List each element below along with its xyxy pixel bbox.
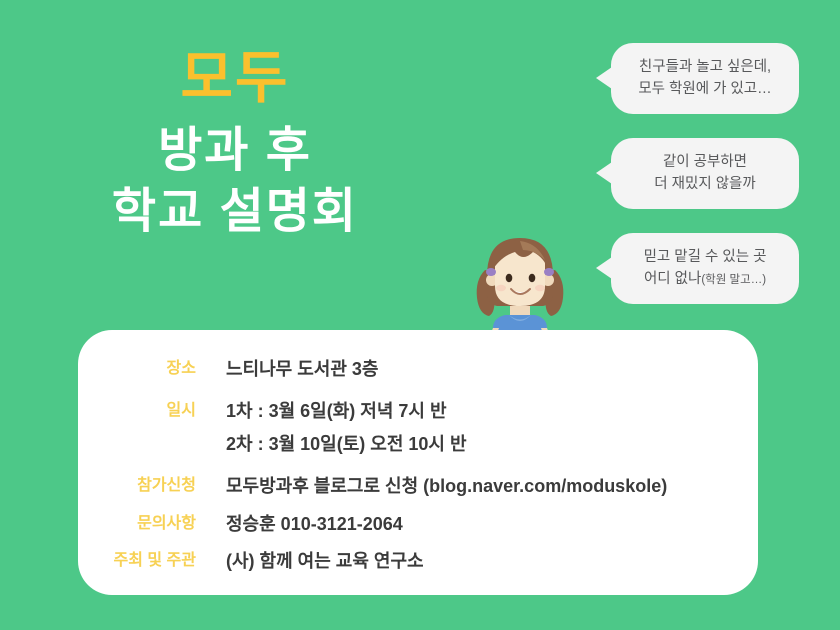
speech-bubble-3: 믿고 맡길 수 있는 곳 어디 없나(학원 말고…): [611, 233, 799, 304]
info-row-datetime: 일시 1차 : 3월 6일(화) 저녁 7시 반 2차 : 3월 10일(토) …: [78, 398, 758, 459]
info-row-organizer: 주최 및 주관 (사) 함께 여는 교육 연구소: [78, 548, 758, 576]
info-value-datetime-session2: 2차 : 3월 10일(토) 오전 10시 반: [226, 431, 467, 459]
info-row-venue: 장소 느티나무 도서관 3층: [78, 356, 758, 384]
info-label-venue: 장소: [78, 356, 196, 381]
info-label-contact: 문의사항: [78, 511, 196, 536]
info-value-contact-line1: 정승훈 010-3121-2064: [226, 511, 403, 539]
info-value-datetime-session1: 1차 : 3월 6일(화) 저녁 7시 반: [226, 398, 467, 426]
girl-character-illustration: [465, 228, 575, 343]
info-value-organizer-line1: (사) 함께 여는 교육 연구소: [226, 548, 424, 576]
info-value-datetime: 1차 : 3월 6일(화) 저녁 7시 반 2차 : 3월 10일(토) 오전 …: [226, 398, 467, 459]
page-title-accent: 모두: [0, 48, 470, 110]
event-info-card: 장소 느티나무 도서관 3층 일시 1차 : 3월 6일(화) 저녁 7시 반 …: [78, 330, 758, 595]
info-label-organizer: 주최 및 주관: [78, 548, 196, 573]
speech-bubble-tail-icon: [596, 257, 612, 279]
speech-bubble-2: 같이 공부하면 더 재밌지 않을까: [611, 138, 799, 209]
page-title-line3: 학교 설명회: [0, 185, 470, 239]
speech-bubble-3-line2: 어디 없나(학원 말고…): [629, 268, 781, 290]
speech-bubble-1-line1: 친구들과 놀고 싶은데,: [629, 56, 781, 78]
info-label-datetime: 일시: [78, 398, 196, 423]
speech-bubble-tail-icon: [596, 67, 612, 89]
info-row-registration: 참가신청 모두방과후 블로그로 신청 (blog.naver.com/modus…: [78, 473, 758, 501]
speech-bubble-1: 친구들과 놀고 싶은데, 모두 학원에 가 있고…: [611, 43, 799, 114]
speech-bubble-1-line2: 모두 학원에 가 있고…: [629, 78, 781, 100]
speech-bubble-tail-icon: [596, 162, 612, 184]
speech-bubble-3-line1: 믿고 맡길 수 있는 곳: [629, 246, 781, 268]
info-value-venue: 느티나무 도서관 3층: [226, 356, 379, 384]
girl-character-icon: [465, 228, 575, 343]
info-value-organizer: (사) 함께 여는 교육 연구소: [226, 548, 424, 576]
speech-bubble-2-line1: 같이 공부하면: [629, 151, 781, 173]
info-value-registration-line1[interactable]: 모두방과후 블로그로 신청 (blog.naver.com/moduskole): [226, 473, 667, 501]
poster-canvas: 모두 방과 후 학교 설명회 친구들과 놀고 싶은데, 모두 학원에 가 있고……: [0, 0, 840, 630]
info-label-registration: 참가신청: [78, 473, 196, 498]
info-row-contact: 문의사항 정승훈 010-3121-2064: [78, 511, 758, 539]
page-title-line2: 방과 후: [0, 124, 470, 178]
info-value-registration[interactable]: 모두방과후 블로그로 신청 (blog.naver.com/moduskole): [226, 473, 667, 501]
info-value-venue-line1: 느티나무 도서관 3층: [226, 356, 379, 384]
speech-bubble-3-line2-note: (학원 말고…): [701, 274, 766, 286]
poster-title-block: 모두 방과 후 학교 설명회: [0, 48, 470, 239]
speech-bubble-3-line2-main: 어디 없나: [644, 271, 701, 287]
info-value-contact: 정승훈 010-3121-2064: [226, 511, 403, 539]
speech-bubble-2-line2: 더 재밌지 않을까: [629, 173, 781, 195]
